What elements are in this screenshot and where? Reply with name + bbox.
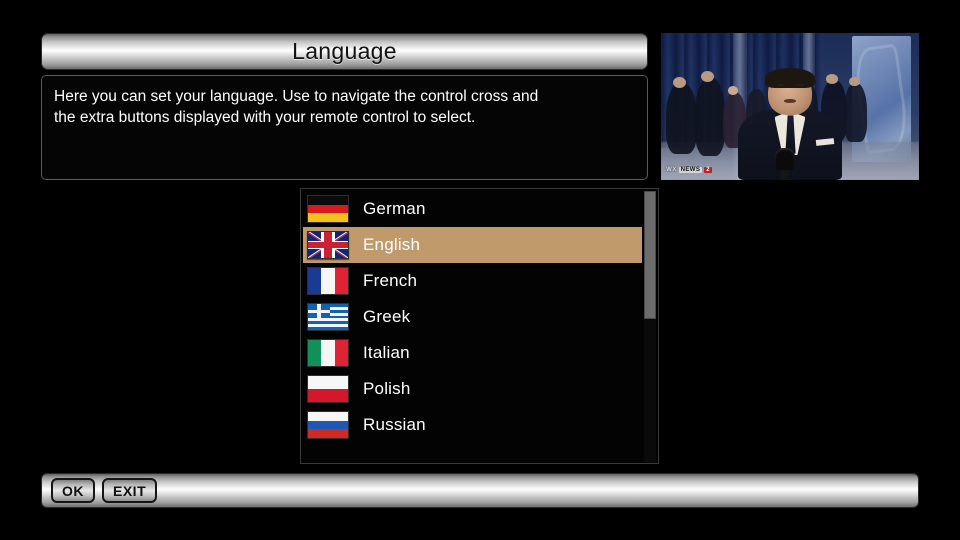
video-crowd-figure xyxy=(844,83,867,142)
language-list-item[interactable]: German xyxy=(303,191,642,227)
video-crowd-head xyxy=(849,77,859,86)
footer-bar: OK EXIT xyxy=(41,473,919,508)
flag-poland-icon xyxy=(307,375,349,403)
channel-logo: WX NEWS 2 xyxy=(666,163,712,178)
video-reporter-hair xyxy=(765,68,814,89)
language-list[interactable]: GermanEnglishFrenchGreekItalianPolishRus… xyxy=(301,189,644,443)
list-scrollbar-track[interactable] xyxy=(644,191,656,463)
list-scrollbar-thumb[interactable] xyxy=(644,191,656,319)
flag-greece-icon xyxy=(307,303,349,331)
flag-germany-icon xyxy=(307,195,349,223)
exit-button[interactable]: EXIT xyxy=(102,478,157,503)
language-list-panel[interactable]: GermanEnglishFrenchGreekItalianPolishRus… xyxy=(300,188,659,464)
ok-button[interactable]: OK xyxy=(51,478,95,503)
video-reporter-eye xyxy=(796,84,804,86)
language-list-item-label: Polish xyxy=(363,379,411,399)
description-panel: Here you can set your language. Use to n… xyxy=(41,75,648,180)
video-crowd-figure xyxy=(695,77,726,156)
language-list-item-label: Russian xyxy=(363,415,426,435)
flag-russia-icon xyxy=(307,411,349,439)
video-reporter-mouth xyxy=(784,99,797,103)
flag-united-kingdom-icon xyxy=(307,231,349,259)
language-list-item-label: English xyxy=(363,235,420,255)
language-list-item-label: French xyxy=(363,271,417,291)
channel-logo-word: WX xyxy=(666,167,676,173)
language-list-item[interactable]: Italian xyxy=(303,335,642,371)
flag-italy-icon xyxy=(307,339,349,367)
language-list-item[interactable]: Greek xyxy=(303,299,642,335)
language-list-item[interactable]: Russian xyxy=(303,407,642,443)
language-list-item[interactable]: Polish xyxy=(303,371,642,407)
language-list-item[interactable]: French xyxy=(303,263,642,299)
video-crowd-head xyxy=(728,86,738,95)
video-crowd-head xyxy=(826,74,838,84)
video-crowd-figure xyxy=(666,83,697,154)
page-title: Language xyxy=(292,38,397,65)
channel-logo-mark: 2 xyxy=(704,167,712,173)
page-title-bar: Language xyxy=(41,33,648,70)
language-list-item-label: German xyxy=(363,199,426,219)
video-scene: WX NEWS 2 xyxy=(661,33,919,180)
video-microphone xyxy=(775,148,796,170)
description-text: Here you can set your language. Use to n… xyxy=(54,86,635,128)
channel-logo-news: NEWS xyxy=(679,167,703,173)
language-list-item-label: Italian xyxy=(363,343,410,363)
video-crowd-head xyxy=(673,77,686,88)
flag-france-icon xyxy=(307,267,349,295)
video-reporter-eye xyxy=(777,84,785,86)
language-list-item-label: Greek xyxy=(363,307,410,327)
video-preview[interactable]: WX NEWS 2 xyxy=(661,33,919,180)
tv-settings-screen: Language Here you can set your language.… xyxy=(0,0,960,540)
language-list-item[interactable]: English xyxy=(303,227,642,263)
